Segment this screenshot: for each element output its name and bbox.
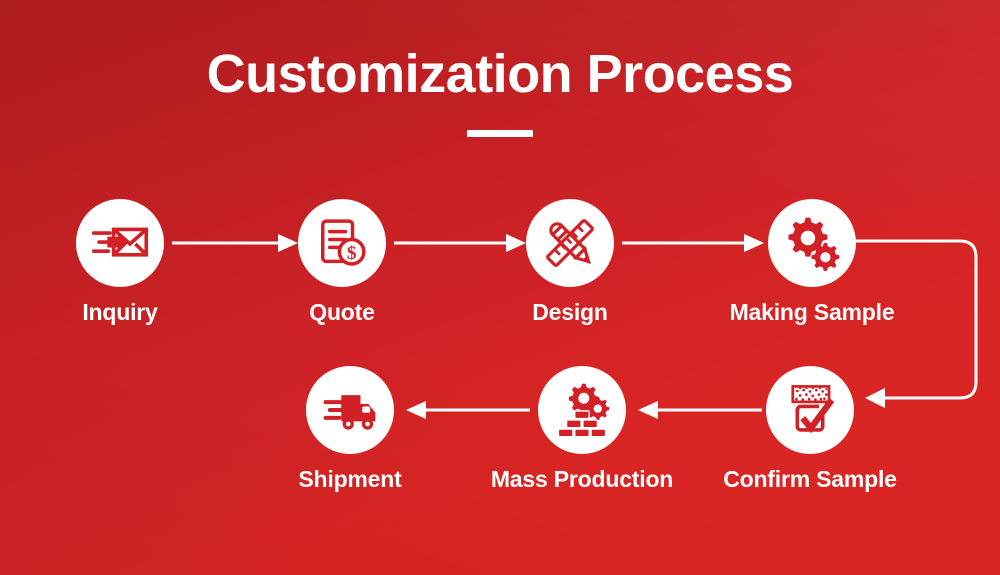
confirm-sample-icon-circle xyxy=(766,366,854,454)
quote-icon-circle: $ xyxy=(298,199,386,287)
step-label: Design xyxy=(455,299,685,326)
gears-icon xyxy=(783,214,841,272)
process-step-confirm-sample[interactable]: Confirm Sample xyxy=(695,366,925,493)
title-divider xyxy=(467,130,533,137)
shipment-icon-circle xyxy=(306,366,394,454)
step-label: Confirm Sample xyxy=(695,466,925,493)
bricks-gears-icon xyxy=(553,381,611,439)
document-dollar-icon: $ xyxy=(314,215,370,271)
step-label: Quote xyxy=(227,299,457,326)
envelope-fast-icon xyxy=(91,214,149,272)
page-title: Customization Process xyxy=(0,46,1000,103)
step-label: Making Sample xyxy=(697,299,927,326)
pencil-ruler-icon xyxy=(541,214,599,272)
step-label: Shipment xyxy=(235,466,465,493)
step-label: Inquiry xyxy=(5,299,235,326)
checkbox-swatch-icon xyxy=(781,381,839,439)
making-sample-icon-circle xyxy=(768,199,856,287)
design-icon-circle xyxy=(526,199,614,287)
inquiry-icon-circle xyxy=(76,199,164,287)
process-step-shipment[interactable]: Shipment xyxy=(235,366,465,493)
customization-process-infographic: Customization Process xyxy=(0,0,1000,575)
step-label: Mass Production xyxy=(467,466,697,493)
process-step-mass-production[interactable]: Mass Production xyxy=(467,366,697,493)
process-step-making-sample[interactable]: Making Sample xyxy=(697,199,927,326)
process-step-design[interactable]: Design xyxy=(455,199,685,326)
process-step-inquiry[interactable]: Inquiry xyxy=(5,199,235,326)
delivery-truck-icon xyxy=(322,382,378,438)
process-step-quote[interactable]: $ Quote xyxy=(227,199,457,326)
svg-text:$: $ xyxy=(347,243,357,264)
mass-production-icon-circle xyxy=(538,366,626,454)
